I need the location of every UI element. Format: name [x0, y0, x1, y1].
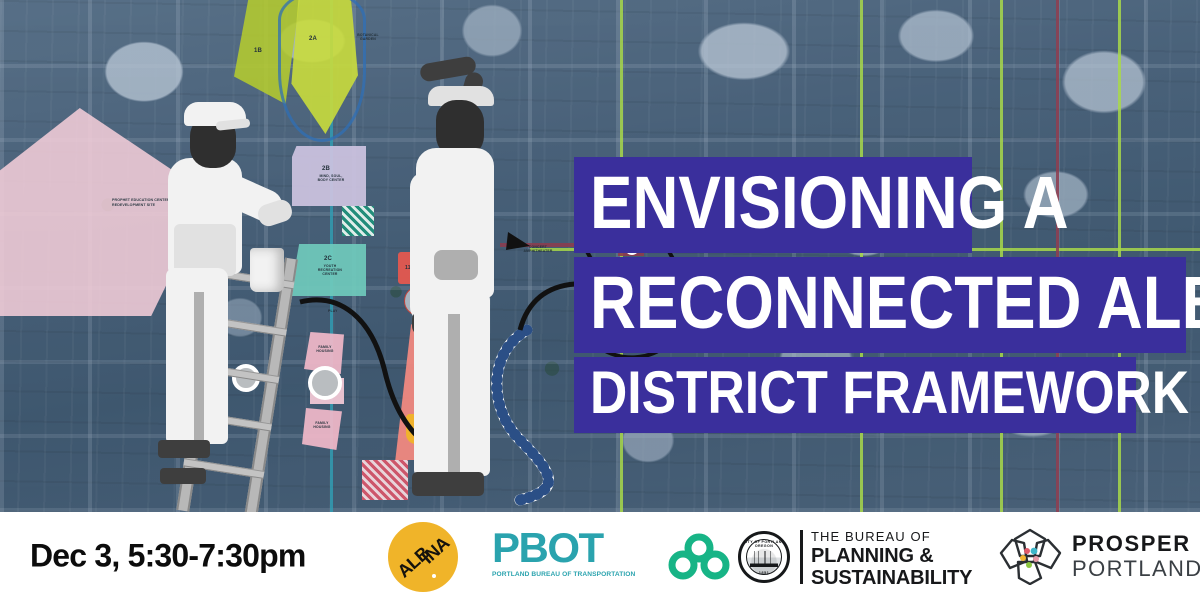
prosper-portland-flower-icon	[998, 527, 1062, 585]
event-date-time: Dec 3, 5:30-7:30pm	[30, 538, 306, 575]
worker-left-boot-2	[160, 468, 206, 484]
title-line-3-text: DISTRICT FRAMEWORK	[590, 365, 1189, 420]
pbot-wordmark: PBOT	[492, 528, 638, 568]
worker-right-leg-shadow	[448, 314, 460, 474]
bps-wordmark[interactable]: THE BUREAU OF PLANNING & SUSTAINABILITY	[811, 529, 972, 589]
paint-bucket	[250, 248, 284, 292]
worker-right-boots	[412, 472, 484, 496]
hero-image: PROPHET EDUCATION CENTER REDEVELOPMENT S…	[0, 0, 1200, 512]
petal-dot-green	[1026, 562, 1032, 568]
title-line-3-block: DISTRICT FRAMEWORK	[574, 357, 1136, 433]
prosper-portland-wordmark[interactable]: PROSPER PORTLAND	[1072, 532, 1200, 581]
bps-line3: SUSTAINABILITY	[811, 567, 972, 589]
title-line-1-block: ENVISIONING A	[574, 157, 972, 253]
historic-worker-figure-right	[392, 52, 524, 512]
worker-left-leg-shadow	[194, 292, 204, 444]
event-poster: PROPHET EDUCATION CENTER REDEVELOPMENT S…	[0, 0, 1200, 600]
worker-left-boot-1	[158, 440, 210, 458]
pbot-logo[interactable]: PBOT PORTLAND BUREAU OF TRANSPORTATION	[492, 528, 638, 578]
seal-year-text: 1851	[741, 570, 787, 575]
historic-worker-figure-left	[150, 96, 336, 512]
seal-top-text: CITY OF PORTLAND OREGON	[741, 540, 787, 548]
albina-logo[interactable]: ALB INA	[388, 522, 458, 592]
bps-divider	[800, 530, 803, 584]
black-arrow-curve-top	[520, 284, 575, 330]
worker-right-pocket-shadow	[434, 250, 478, 280]
city-of-portland-seal: CITY OF PORTLAND OREGON 1851	[738, 531, 790, 583]
pbot-subtitle: PORTLAND BUREAU OF TRANSPORTATION	[492, 571, 638, 578]
bps-trefoil-icon	[668, 532, 730, 582]
bps-line1: THE BUREAU OF	[811, 529, 972, 545]
seal-scene-illustration	[750, 551, 778, 567]
title-line-2-text: RECONNECTED ALBINA:	[590, 269, 1200, 337]
albina-logo-dot	[432, 574, 436, 578]
title-line-2-block: RECONNECTED ALBINA:	[574, 257, 1186, 353]
petal-dot-yellow	[1020, 555, 1026, 561]
prosper-line1: PROSPER	[1072, 532, 1200, 557]
bps-line2: PLANNING &	[811, 545, 972, 567]
petal-dot-teal	[1031, 548, 1038, 555]
prosper-line2: PORTLAND	[1072, 557, 1200, 582]
title-line-1-text: ENVISIONING A	[590, 169, 1069, 237]
petal-dot-red	[1024, 548, 1030, 554]
petal-dot-pink	[1033, 556, 1039, 562]
